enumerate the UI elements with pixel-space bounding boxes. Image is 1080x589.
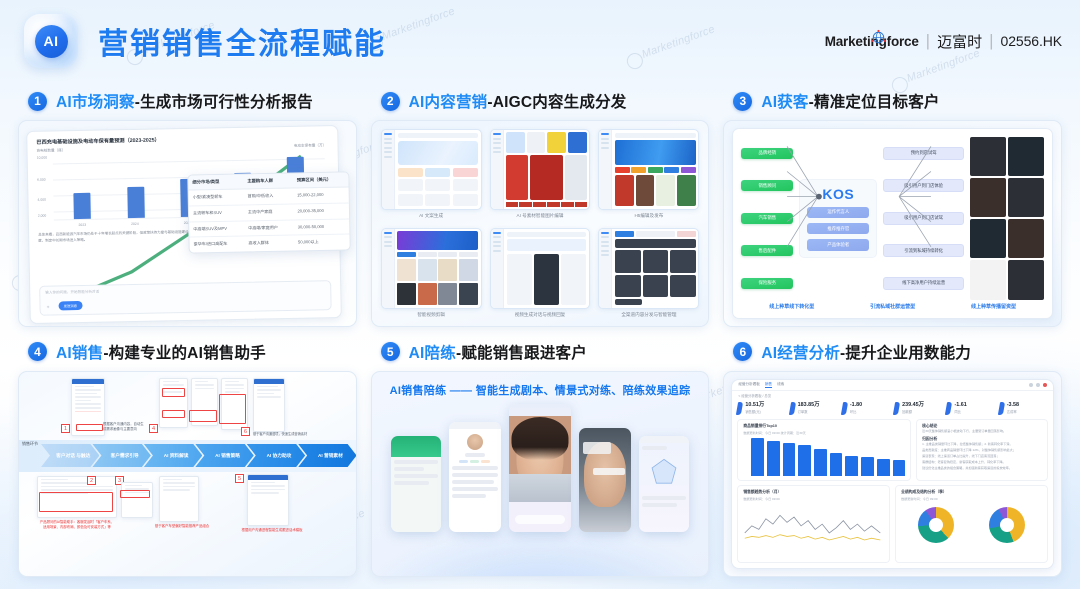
section-header: 6 AI经营分析-提升企业用数能力 [723, 333, 1062, 371]
kos-outcome-item: 吸引用户到门店试驾 [883, 212, 964, 225]
step-marker: 5 [235, 474, 244, 483]
section-title-highlight: AI内容营销 [409, 94, 488, 111]
chat-input-box[interactable]: 输入你的问题，开始智能分析对话 + 发送消息 [39, 280, 331, 316]
kos-source-roles: 品牌经销 销售顾问 汽车销售 售后配件 保险服务 [741, 137, 793, 300]
brand-separator: | [989, 31, 993, 51]
panel-subtitle: 数据更新时间：今日 09:00 统计周期：近30天 [743, 430, 905, 435]
tile-caption: AI 文案生成 [381, 210, 482, 221]
flow-step[interactable]: 客户需求引导 [92, 444, 150, 467]
insight-body: 近30天整体销售额呈小幅波动下行，主要受订单量回落影响。 [922, 429, 1042, 435]
kpi-marker [841, 402, 848, 415]
section-title-highlight: AI陪练 [409, 345, 456, 362]
kos-source-item: 保险服务 [741, 278, 793, 289]
brand-separator: | [926, 31, 930, 51]
kpi-card: -1.61同比 [946, 402, 995, 415]
highlight-box [219, 394, 246, 424]
insight-panel: 核心结论 近30天整体销售额呈小幅波动下行，主要受订单量回落影响。 归因分析 1… [916, 419, 1048, 481]
kos-footer-label: 引流私域社群运营型 [842, 303, 943, 310]
table-cell: 豪华车/进口高配车 [189, 236, 244, 252]
dashboard-bottom-row: 销售额趋势分析（月） 数据更新时间：今日 09:00 业绩构成及结构分析（季） … [732, 485, 1053, 569]
breadcrumb: < 经营分析看板 / 总览 [732, 391, 1053, 400]
section-title: AI内容营销-AIGC内容生成分发 [409, 90, 627, 112]
section-title: AI经营分析-提升企业用数能力 [761, 341, 971, 363]
card-content-marketing[interactable]: AI 文案生成 [371, 120, 710, 327]
kos-outcomes: 预约到店试驾 吸引用户到门店体验 吸引用户到门店试驾 引流到私域持续转化 线下高… [883, 137, 964, 300]
trend-line-chart [743, 503, 884, 547]
tile-caption: H5编辑及发布 [598, 210, 699, 221]
table-cell: 小型/紧凑型轿车 [188, 189, 243, 206]
coach-phone-row [380, 404, 701, 532]
kpi-value: -1.61 [954, 402, 966, 408]
kos-source-item: 汽车销售 [741, 213, 793, 224]
phone-chat-screen [391, 436, 441, 532]
section-number: 6 [733, 342, 752, 361]
chart-ytick: 2,000 [38, 214, 47, 218]
kos-source-item: 售后配件 [741, 245, 793, 256]
section-ai-sales: 4 AI销售-构建专业的AI销售助手 1 根据客户沟通内容，自动生成需求画像与主… [18, 333, 357, 578]
section-ai-content-marketing: 2 AI内容营销-AIGC内容生成分发 A [371, 82, 710, 327]
section-number: 4 [28, 342, 47, 361]
kos-logo-text: KOS [822, 186, 854, 202]
kpi-value: 183.85万 [798, 402, 820, 408]
settings-icon[interactable] [1029, 383, 1033, 387]
attach-icon[interactable]: + [47, 304, 50, 310]
dashboard-tabs: 经营分析看板 销售 线索 [732, 380, 1053, 391]
kpi-label: 回款额 [902, 409, 924, 414]
highlight-box [162, 410, 185, 418]
section-number: 3 [733, 92, 752, 111]
tab-sales[interactable]: 销售 [765, 382, 772, 388]
ai-logo-text: AI [35, 25, 68, 58]
line-chart-panel: 销售额趋势分析（月） 数据更新时间：今日 09:00 [737, 485, 890, 564]
section-number: 1 [28, 92, 47, 111]
kos-role-item: 产品体验者 [807, 239, 869, 250]
section-title-rest: -精准定位目标客户 [809, 94, 940, 111]
kpi-value: 10.51万 [745, 402, 764, 408]
section-title: AI市场洞察-生成市场可行性分析报告 [56, 90, 313, 112]
coach-banner-title: AI销售陪练 —— 智能生成剧本、情景式对练、陪练效果追踪 [380, 382, 701, 398]
section-title-rest: -构建专业的AI销售助手 [103, 345, 266, 362]
kos-footer-labels: 线上种草线下转化型 引流私域社群运营型 线上种草传播留资型 [741, 300, 1044, 314]
kos-outcome-item: 预约到店试驾 [883, 147, 964, 160]
kos-footer-label: 线上种草线下转化型 [741, 303, 842, 310]
band-label: 销售环节 [22, 441, 38, 447]
card-business-analytics[interactable]: 经营分析看板 销售 线索 < 经营分析看板 / 总览 10.51万销售额(元) … [723, 371, 1062, 578]
table-cell: 首购/中低收入 [243, 188, 293, 204]
section-title: AI获客-精准定位目标客户 [761, 90, 939, 112]
chat-input-placeholder: 输入你的问题，开始智能分析对话 [45, 285, 325, 295]
kpi-marker [736, 402, 743, 415]
table-cell: 主流中产家庭 [243, 204, 293, 220]
highlight-box [76, 424, 103, 431]
kpi-marker [893, 402, 900, 415]
table-cell: 50,000以上 [294, 234, 350, 250]
chart-y-label: 充电桩数量（座） [37, 148, 66, 154]
kpi-marker [998, 402, 1005, 415]
chart-y2-label: 电动车保有量（万） [294, 143, 326, 149]
section-header: 5 AI陪练-赋能销售跟进客户 [371, 333, 710, 371]
section-header: 2 AI内容营销-AIGC内容生成分发 [371, 82, 710, 120]
section-title-highlight: AI经营分析 [761, 345, 840, 362]
globe-icon [870, 29, 887, 46]
screenshot [598, 228, 699, 309]
post-thumbnail [1008, 219, 1044, 258]
table-header-cell: 细分市场/类型 [188, 174, 243, 190]
section-ai-market-insight: 1 AI市场洞察-生成市场可行性分析报告 巴西充电基础设施及电动车保有量预测（2… [18, 82, 357, 327]
card-ai-coach[interactable]: AI销售陪练 —— 智能生成剧本、情景式对练、陪练效果追踪 [371, 371, 710, 578]
table-cell: 30,000-50,000 [293, 218, 349, 235]
post-thumbnail [1008, 260, 1044, 299]
section-header: 4 AI销售-构建专业的AI销售助手 [18, 333, 357, 371]
kpi-label: 环比 [850, 409, 862, 414]
phone-live-practice [579, 428, 631, 532]
section-header: 1 AI市场洞察-生成市场可行性分析报告 [18, 82, 357, 120]
kos-source-item: 品牌经销 [741, 148, 793, 159]
table-cell: 15,000-22,000 [293, 187, 349, 204]
highlight-box [189, 410, 217, 422]
screenshot-grid: AI 文案生成 [381, 129, 700, 320]
flow-note: 基于客户沟通语境，快速生成营销素材 [253, 432, 315, 437]
brand-lockup: Marketingforce | 迈富时 | 02556.HK [825, 31, 1062, 52]
screenshot [490, 228, 591, 309]
sales-flow-canvas: 1 根据客户沟通内容，自动生成需求画像与主要意向 4 [19, 372, 356, 577]
kos-social-posts [970, 137, 1044, 300]
flow-note: 根据用户沟通进程智能生成跟进话术模板 [235, 528, 309, 533]
flow-note: 产品顾问的AI智能助手：客服发起时「客户车系、适用场景、内部布局、颜色及可安装方… [39, 520, 115, 530]
section-number: 2 [381, 92, 400, 111]
screenshot [490, 129, 591, 210]
flow-step[interactable]: 客户对话 与触达 [41, 444, 99, 467]
tile-ai-copywriting[interactable]: AI 文案生成 [381, 129, 482, 221]
post-thumbnail [970, 219, 1006, 258]
section-title-highlight: AI销售 [56, 345, 103, 362]
tile-video-dialog[interactable]: 视频生成对话与视频回复 [490, 228, 591, 320]
step-marker: 2 [87, 476, 96, 485]
kos-diagram: 品牌经销 销售顾问 汽车销售 售后配件 保险服务 KOS 运作代言人 推荐推存官… [732, 128, 1053, 319]
kpi-marker [788, 402, 795, 415]
tab-overview[interactable]: 经营分析看板 [738, 382, 760, 387]
kos-outcome-item: 线下高净用户持续运营 [883, 277, 964, 290]
card-ai-sales[interactable]: 1 根据客户沟通内容，自动生成需求画像与主要意向 4 [18, 371, 357, 578]
kos-core: KOS 运作代言人 推荐推存官 产品体验者 [799, 179, 877, 258]
section-ai-business-analytics: 6 AI经营分析-提升企业用数能力 经营分析看板 销售 线索 < 经营分析看板 … [723, 333, 1062, 578]
panel-subtitle: 数据更新时间：今日 09:00 [901, 496, 1042, 501]
table-cell: 中高端/家庭用户 [244, 220, 294, 236]
kos-outcome-item: 吸引用户到门店体验 [883, 179, 964, 192]
highlight-box [120, 490, 150, 498]
chart-xtick: 2023 [78, 223, 86, 227]
flow-note: 基于客户车型偏好智能推荐产品组合 [147, 524, 217, 529]
requirement-screenshot [159, 378, 188, 428]
tile-caption: AI 号素材智能图片编辑 [490, 210, 591, 221]
table-row: 豪华车/进口高配车高收入群体50,000以上 [189, 234, 349, 252]
screenshot [598, 129, 699, 210]
page-title: 营销销售全流程赋能 [98, 19, 386, 63]
flow-note: 根据客户沟通内容，自动生成需求画像与主要意向 [103, 422, 147, 432]
refresh-icon[interactable] [1036, 383, 1040, 387]
donut-panel: 业绩构成及结构分析（季） 数据更新时间：今日 09:00 [895, 485, 1048, 564]
section-title: AI陪练-赋能销售跟进客户 [409, 341, 587, 363]
panel-title: 销售额趋势分析（月） [743, 490, 884, 495]
panel-title: 商品销量排行Top10 [743, 424, 905, 429]
panel-title: 业绩构成及结构分析（季） [901, 490, 1042, 495]
kpi-card: 183.85万订单数 [790, 402, 839, 415]
section-title-highlight: AI获客 [761, 94, 808, 111]
insight-footer: 建议优化主推品类的组合策略，并加强新客获取渠道的投放效率。 [922, 466, 1042, 472]
kpi-value: -3.58 [1007, 402, 1019, 408]
notification-icon[interactable] [1043, 383, 1047, 387]
radar-chart-icon [647, 456, 681, 490]
post-thumbnail [1008, 178, 1044, 217]
sections-grid: 1 AI市场洞察-生成市场可行性分析报告 巴西充电基础设施及电动车保有量预测（2… [0, 82, 1080, 589]
post-thumbnail [970, 260, 1006, 299]
kpi-card: -3.58达成率 [999, 402, 1048, 415]
highlight-box [39, 492, 113, 512]
section-title-highlight: AI市场洞察 [56, 94, 135, 111]
kpi-marker [945, 402, 952, 415]
tile-video-editing[interactable]: 智能视频剪辑 [381, 228, 482, 320]
tile-omnichannel-distribution[interactable]: 全渠道内容分发与智能管理 [598, 228, 699, 320]
recommendation-screenshot [121, 482, 153, 518]
donut-charts [901, 503, 1042, 547]
segment-table[interactable]: 细分市场/类型 主要购车人群 预算区间（美元） 小型/紧凑型轿车首购/中低收入1… [187, 171, 350, 253]
kpi-card: 10.51万销售额(元) [737, 402, 786, 415]
kos-role-item: 推荐推存官 [807, 223, 869, 234]
post-thumbnail [970, 137, 1006, 176]
tile-caption: 视频生成对话与视频回复 [490, 309, 591, 320]
section-ai-coach: 5 AI陪练-赋能销售跟进客户 AI销售陪练 —— 智能生成剧本、情景式对练、陪… [371, 333, 710, 578]
kpi-label: 达成率 [1007, 409, 1019, 414]
tile-caption: 全渠道内容分发与智能管理 [598, 309, 699, 320]
stock-ticker: 02556.HK [1001, 33, 1062, 49]
followup-screenshot [247, 474, 289, 526]
post-thumbnail [970, 178, 1006, 217]
section-ai-customer-acquisition: 3 AI获客-精准定位目标客户 [723, 82, 1062, 327]
highlight-box [162, 388, 185, 397]
section-title: AI销售-构建专业的AI销售助手 [56, 341, 266, 363]
kpi-label: 同比 [954, 409, 966, 414]
kpi-label: 销售额(元) [745, 409, 764, 414]
chart-ytick: 4,000 [37, 198, 46, 202]
script-screenshot [159, 476, 199, 522]
chart-xtick: 2024 [131, 222, 139, 226]
table-header-cell: 主要购车人群 [243, 174, 293, 190]
donut-chart [989, 507, 1025, 543]
step-marker: 6 [241, 427, 250, 436]
kos-role-item: 运作代言人 [807, 207, 869, 218]
bar [127, 187, 145, 218]
kos-source-item: 销售顾问 [741, 180, 793, 191]
panel-subtitle: 数据更新时间：今日 09:00 [743, 496, 884, 501]
kpi-card: 239.45万回款额 [894, 402, 943, 415]
step-marker: 1 [61, 424, 70, 433]
ai-logo-badge: AI [24, 14, 78, 68]
flow-step[interactable]: AI 资料解读 [144, 444, 202, 467]
kpi-card: -1.80环比 [842, 402, 891, 415]
table-cell: 主流轿车和SUV [189, 205, 244, 222]
bar [74, 193, 91, 219]
kpi-value: -1.80 [850, 402, 862, 408]
top10-bar-chart [743, 438, 905, 476]
report-chart-title: 巴西充电基础设施及电动车保有量预测（2023-2025） [36, 133, 328, 146]
phone-avatar-video [509, 404, 571, 532]
material-screenshot [253, 378, 285, 432]
phone-report-screen [639, 436, 689, 532]
flow-step[interactable]: AI 销售策略 [195, 444, 253, 467]
chart-ytick: 6,000 [37, 178, 46, 182]
section-title-rest: -AIGC内容生成分发 [487, 94, 626, 111]
table-cell: 中高端SUV及MPV [189, 221, 244, 238]
kpi-label: 订单数 [798, 409, 820, 414]
kpi-value: 239.45万 [902, 402, 924, 408]
bi-dashboard: 经营分析看板 销售 线索 < 经营分析看板 / 总览 10.51万销售额(元) … [731, 379, 1054, 570]
kpi-row: 10.51万销售额(元) 183.85万订单数 -1.80环比 239.45万回… [732, 400, 1053, 419]
section-number: 5 [381, 342, 400, 361]
phone-profile-screen [449, 422, 501, 532]
donut-chart [918, 507, 954, 543]
card-customer-acquisition[interactable]: 品牌经销 销售顾问 汽车销售 售后配件 保险服务 KOS 运作代言人 推荐推存官… [723, 120, 1062, 327]
table-cell: 20,000-35,000 [293, 203, 349, 220]
bar-chart-panel: 商品销量排行Top10 数据更新时间：今日 09:00 统计周期：近30天 [737, 419, 911, 481]
flow-step[interactable]: AI 协力助攻 [247, 444, 305, 467]
table-header-cell: 预算区间（美元） [292, 172, 348, 188]
section-title-rest: -提升企业用数能力 [840, 345, 971, 362]
brand-cn-name: 迈富时 [937, 31, 982, 52]
kos-columns: 品牌经销 销售顾问 汽车销售 售后配件 保险服务 KOS 运作代言人 推荐推存官… [741, 137, 1044, 300]
screenshot [381, 129, 482, 210]
tile-caption: 智能视频剪辑 [381, 309, 482, 320]
table-cell: 高收入群体 [244, 235, 294, 251]
card-market-insight[interactable]: 巴西充电基础设施及电动车保有量预测（2023-2025） 充电桩数量（座） 电动… [18, 120, 357, 327]
post-thumbnail [1008, 137, 1044, 176]
kos-footer-label: 线上种草传播留资型 [943, 303, 1044, 310]
section-title-rest: -生成市场可行性分析报告 [135, 94, 313, 111]
page-header: AI 营销销售全流程赋能 Marketingforce | 迈富时 | 0255… [0, 0, 1080, 82]
step-marker: 4 [149, 424, 158, 433]
kos-outcome-item: 引流到私域持续转化 [883, 244, 964, 257]
tab-leads[interactable]: 线索 [777, 382, 784, 387]
process-flow-band: 销售环节 客户对话 与触达 客户需求引导 AI 资料解读 AI 销售策略 AI … [19, 440, 356, 472]
tile-ai-image-editing[interactable]: AI 号素材智能图片编辑 [490, 129, 591, 221]
section-title-rest: -赋能销售跟进客户 [456, 345, 587, 362]
screenshot [381, 228, 482, 309]
section-header: 3 AI获客-精准定位目标客户 [723, 82, 1062, 120]
brand-name: Marketingforce [825, 34, 919, 49]
chart-ytick: 10,000 [37, 156, 47, 160]
send-button[interactable]: 发送消息 [58, 300, 82, 309]
tile-h5-publish[interactable]: H5编辑及发布 [598, 129, 699, 221]
flow-step[interactable]: AI 营销素材 [298, 444, 356, 467]
